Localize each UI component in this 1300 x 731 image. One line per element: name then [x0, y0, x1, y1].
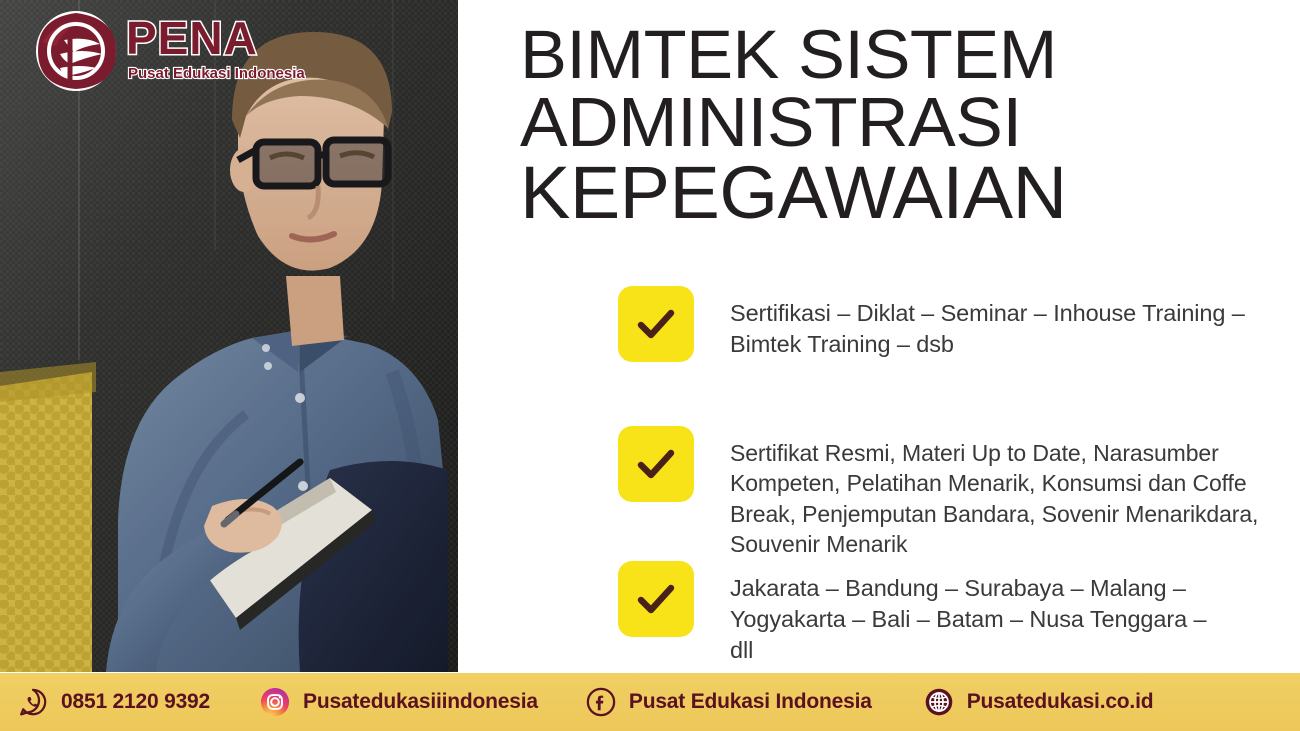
- list-item-label: Sertifikasi – Diklat – Seminar – Inhouse…: [730, 286, 1290, 360]
- promo-poster: PENA Pusat Edukasi Indonesia BIMTEK SIST…: [0, 0, 1300, 731]
- hero-photo-illustration: [0, 0, 458, 672]
- footer-contact-label: 0851 2120 9392: [61, 690, 210, 714]
- footer-contact-whatsapp[interactable]: 0851 2120 9392: [18, 673, 210, 731]
- hero-photo: [0, 0, 458, 672]
- contact-footer: 0851 2120 9392 Pusatedukasii: [0, 673, 1300, 731]
- footer-contact-label: Pusat Edukasi Indonesia: [629, 690, 872, 714]
- footer-contact-label: Pusatedukasi.co.id: [967, 690, 1154, 714]
- check-badge: [618, 561, 694, 637]
- check-badge: [618, 426, 694, 502]
- whatsapp-icon: [18, 687, 48, 717]
- list-item: Sertifikasi – Diklat – Seminar – Inhouse…: [618, 286, 1290, 362]
- page-title: BIMTEK SISTEM ADMINISTRASI KEPEGAWAIAN: [520, 22, 1295, 229]
- check-icon: [632, 440, 680, 488]
- check-icon: [632, 575, 680, 623]
- list-item: Jakarata – Bandung – Surabaya – Malang –…: [618, 561, 1230, 666]
- globe-icon: [924, 687, 954, 717]
- svg-text:PENA: PENA: [126, 12, 258, 64]
- svg-text:Pusat Edukasi Indonesia: Pusat Edukasi Indonesia: [128, 65, 305, 82]
- pena-emblem-icon: [30, 6, 122, 94]
- headline-line-2: ADMINISTRASI: [520, 89, 1295, 157]
- check-badge: [618, 286, 694, 362]
- footer-contact-instagram[interactable]: Pusatedukasiiindonesia: [260, 673, 538, 731]
- list-item: Sertifikat Resmi, Materi Up to Date, Nar…: [618, 426, 1290, 559]
- facebook-icon: [586, 687, 616, 717]
- pena-wordmark: PENA Pusat Edukasi Indonesia: [126, 10, 326, 90]
- footer-contact-facebook[interactable]: Pusat Edukasi Indonesia: [586, 673, 872, 731]
- list-item-label: Sertifikat Resmi, Materi Up to Date, Nar…: [730, 426, 1290, 559]
- headline-line-3: KEPEGAWAIAN: [520, 157, 1295, 229]
- brand-logo: PENA Pusat Edukasi Indonesia: [30, 4, 320, 96]
- footer-contact-website[interactable]: Pusatedukasi.co.id: [924, 673, 1154, 731]
- headline-line-1: BIMTEK SISTEM: [520, 22, 1295, 89]
- list-item-label: Jakarata – Bandung – Surabaya – Malang –…: [730, 561, 1230, 666]
- check-icon: [632, 300, 680, 348]
- footer-contact-label: Pusatedukasiiindonesia: [303, 690, 538, 714]
- content-panel: BIMTEK SISTEM ADMINISTRASI KEPEGAWAIAN S…: [458, 0, 1300, 672]
- instagram-icon: [260, 687, 290, 717]
